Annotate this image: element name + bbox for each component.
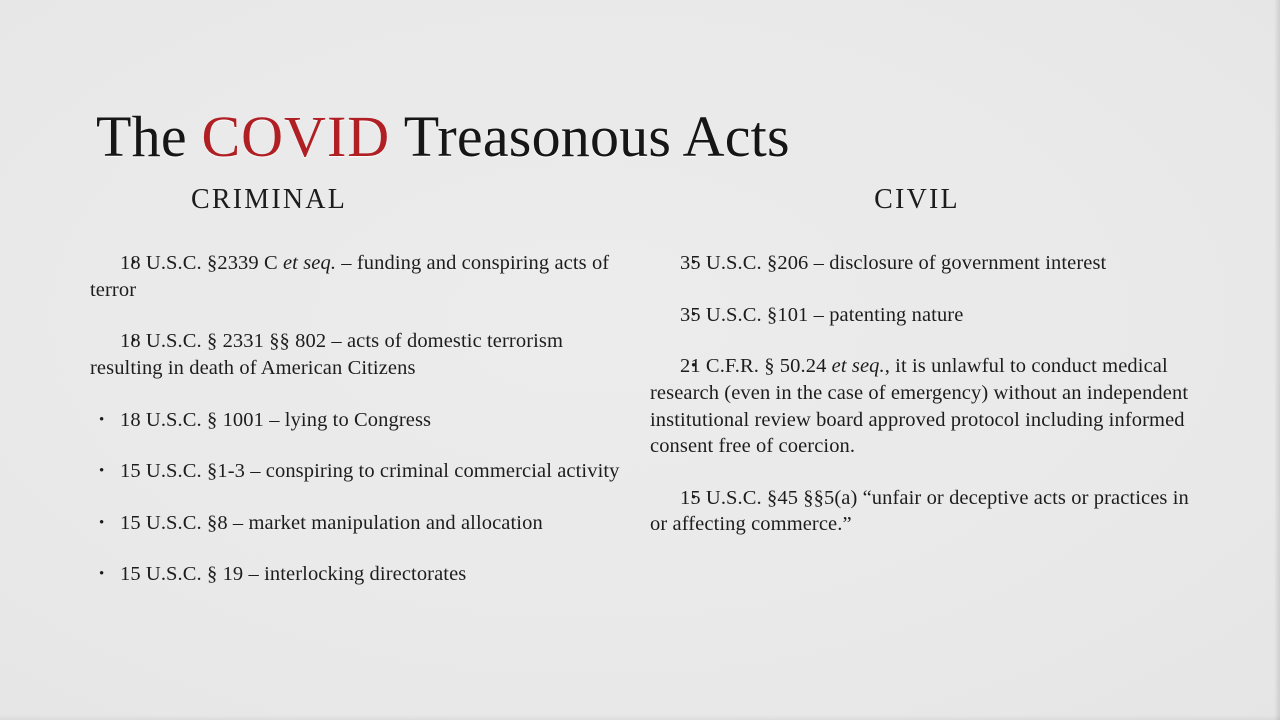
bullet-item-text: 15 U.S.C. § 19 – interlocking directorat… — [120, 563, 466, 585]
bullet-item-text: 15 U.S.C. §1-3 – conspiring to criminal … — [120, 460, 620, 482]
citation-text: 15 U.S.C. §1-3 – conspiring to criminal … — [120, 460, 620, 482]
citation-text: 21 C.F.R. § 50.24 — [680, 355, 832, 377]
bullet-item-text: 15 U.S.C. §45 §§5(a) “unfair or deceptiv… — [650, 487, 1189, 536]
column-heading-criminal: CRIMINAL — [90, 186, 620, 214]
frame-edge-bottom — [0, 715, 1280, 720]
citation-text: 18 U.S.C. § 2331 §§ 802 – acts of domest… — [90, 330, 563, 379]
bullet-item: 15 U.S.C. §8 – market manipulation and a… — [90, 510, 620, 537]
bullet-item: 18 U.S.C. §2339 C et seq. – funding and … — [90, 250, 620, 303]
bullet-item: 15 U.S.C. §1-3 – conspiring to criminal … — [90, 458, 620, 485]
bullet-item: 21 C.F.R. § 50.24 et seq., it is unlawfu… — [650, 353, 1190, 460]
title-suffix: Treasonous Acts — [390, 104, 790, 169]
bullet-item: 18 U.S.C. § 1001 – lying to Congress — [90, 407, 620, 434]
presentation-slide: The COVID Treasonous Acts CRIMINAL 18 U.… — [0, 0, 1280, 720]
citation-text: 15 U.S.C. §45 §§5(a) “unfair or deceptiv… — [650, 487, 1189, 536]
column-criminal: CRIMINAL 18 U.S.C. §2339 C et seq. – fun… — [90, 186, 620, 588]
title-prefix: The — [96, 104, 201, 169]
column-civil: CIVIL 35 U.S.C. §206 – disclosure of gov… — [650, 186, 1190, 538]
citation-text: 15 U.S.C. §8 – market manipulation and a… — [120, 512, 543, 534]
bullet-item: 18 U.S.C. § 2331 §§ 802 – acts of domest… — [90, 328, 620, 381]
bullet-item: 35 U.S.C. §206 – disclosure of governmen… — [650, 250, 1190, 277]
citation-text: 18 U.S.C. §2339 C — [120, 252, 283, 274]
bullet-item: 15 U.S.C. § 19 – interlocking directorat… — [90, 561, 620, 588]
citation-italic: et seq. — [283, 252, 336, 274]
column-heading-civil: CIVIL — [650, 186, 1190, 214]
bullet-list-criminal: 18 U.S.C. §2339 C et seq. – funding and … — [90, 250, 620, 588]
citation-text: 35 U.S.C. §101 – patenting nature — [680, 304, 963, 326]
bullet-item-text: 21 C.F.R. § 50.24 et seq., it is unlawfu… — [650, 355, 1188, 457]
bullet-list-civil: 35 U.S.C. §206 – disclosure of governmen… — [650, 250, 1190, 538]
bullet-item: 35 U.S.C. §101 – patenting nature — [650, 302, 1190, 329]
bullet-item-text: 18 U.S.C. § 1001 – lying to Congress — [120, 409, 431, 431]
bullet-item-text: 15 U.S.C. §8 – market manipulation and a… — [120, 512, 543, 534]
bullet-item-text: 35 U.S.C. §101 – patenting nature — [680, 304, 963, 326]
bullet-item-text: 18 U.S.C. §2339 C et seq. – funding and … — [90, 252, 609, 301]
slide-body-columns: CRIMINAL 18 U.S.C. §2339 C et seq. – fun… — [0, 186, 1280, 706]
citation-italic: et seq. — [832, 355, 885, 377]
bullet-item-text: 18 U.S.C. § 2331 §§ 802 – acts of domest… — [90, 330, 563, 379]
title-highlight-covid: COVID — [201, 104, 390, 169]
citation-text: 35 U.S.C. §206 – disclosure of governmen… — [680, 252, 1106, 274]
slide-title: The COVID Treasonous Acts — [96, 107, 790, 168]
bullet-item: 15 U.S.C. §45 §§5(a) “unfair or deceptiv… — [650, 485, 1190, 538]
bullet-item-text: 35 U.S.C. §206 – disclosure of governmen… — [680, 252, 1106, 274]
citation-text: 15 U.S.C. § 19 – interlocking directorat… — [120, 563, 466, 585]
citation-text: 18 U.S.C. § 1001 – lying to Congress — [120, 409, 431, 431]
